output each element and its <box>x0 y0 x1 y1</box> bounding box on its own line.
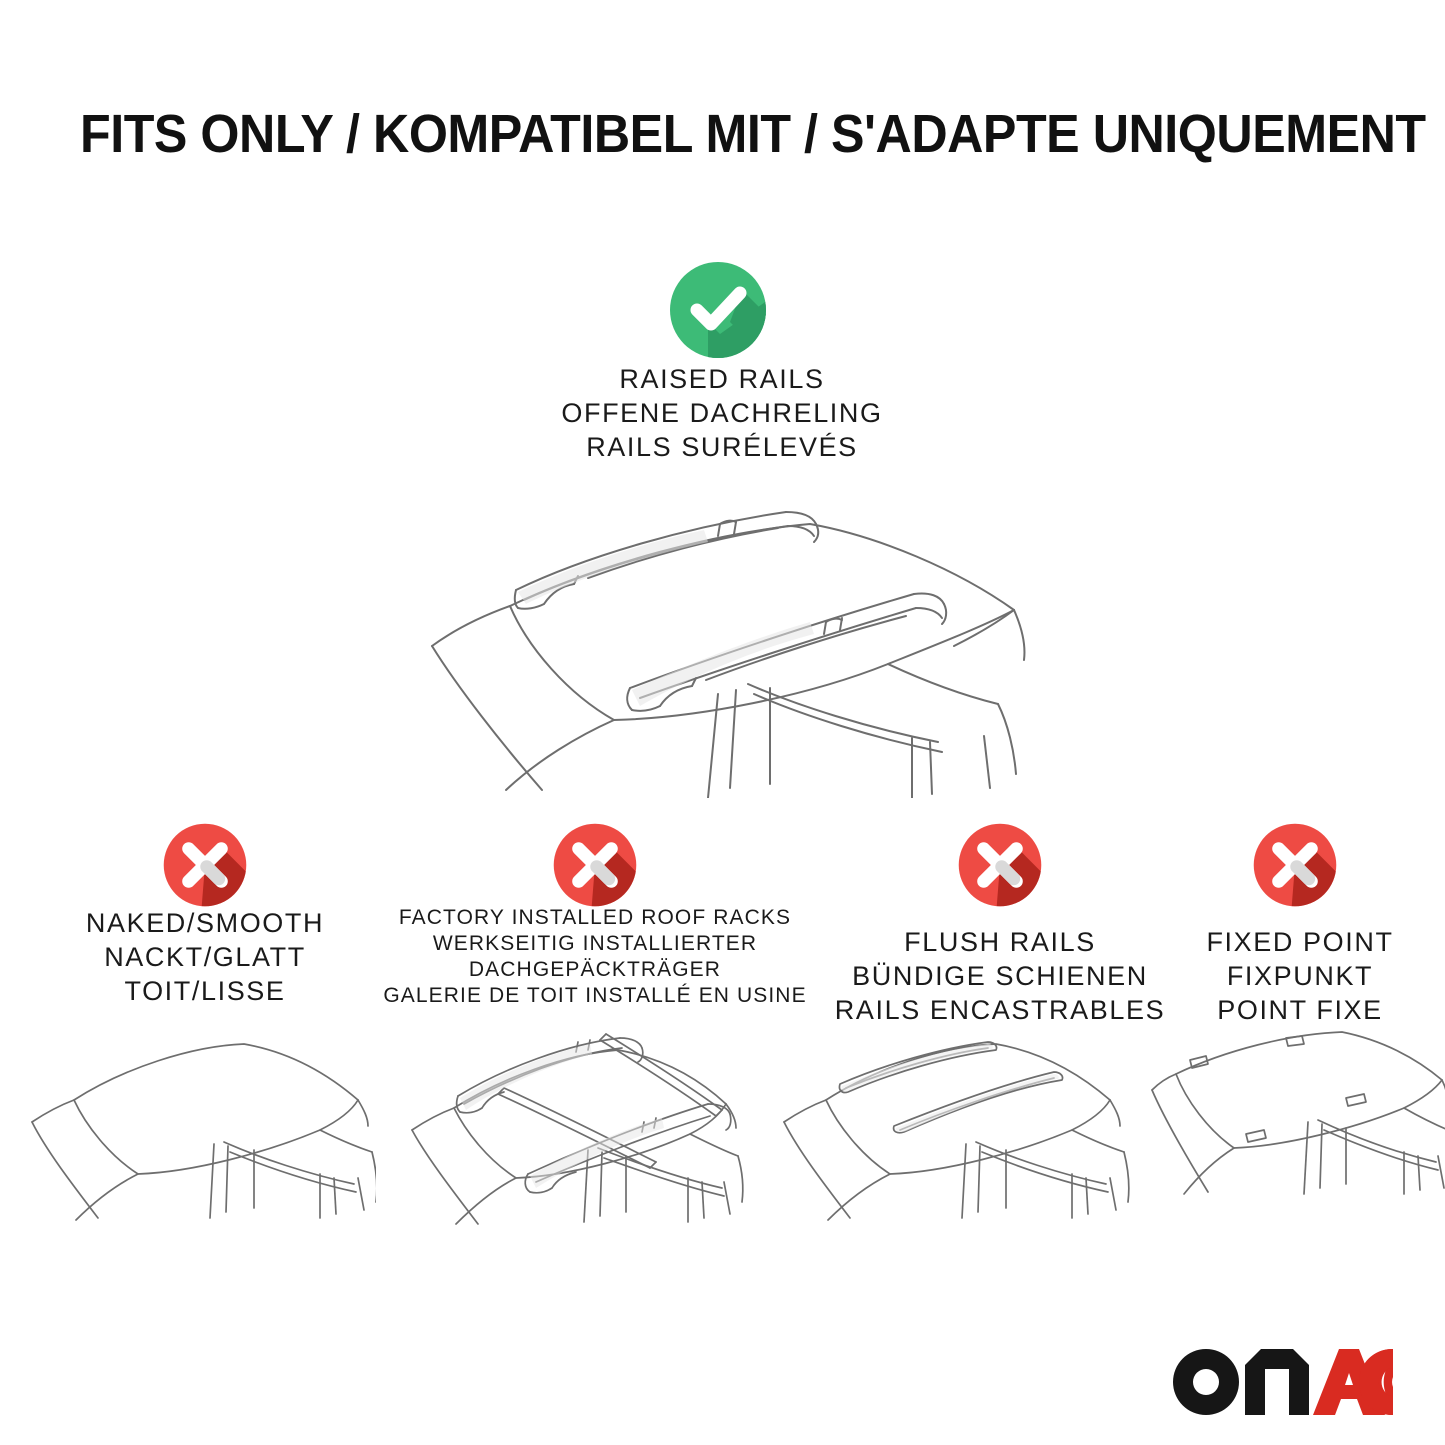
label-line-2: BÜNDIGE SCHIENEN <box>830 959 1170 993</box>
cross-circle-icon <box>1252 822 1338 908</box>
car-roof-raised-rails-illustration <box>418 498 1028 798</box>
label-line-1: FIXED POINT <box>1145 925 1445 959</box>
label-line-4: GALERIE DE TOIT INSTALLÉ EN USINE <box>370 983 820 1009</box>
car-roof-fixed-point-illustration <box>1150 1022 1445 1252</box>
compatible-label-line-2: OFFENE DACHRELING <box>422 396 1022 430</box>
incompatible-label-flush-rails: FLUSH RAILS BÜNDIGE SCHIENEN RAILS ENCAS… <box>830 925 1170 1027</box>
cross-circle-icon <box>552 822 638 908</box>
car-roof-naked-smooth-illustration <box>28 1022 376 1252</box>
incompatible-label-factory-roof-racks: FACTORY INSTALLED ROOF RACKS WERKSEITIG … <box>370 905 820 1009</box>
logo-letter-m <box>1245 1349 1309 1415</box>
car-roof-factory-roof-racks-illustration <box>398 1012 750 1252</box>
check-circle-icon <box>668 260 768 360</box>
cross-circle-icon <box>162 822 248 908</box>
label-line-1: FACTORY INSTALLED ROOF RACKS <box>370 905 820 931</box>
label-line-2: FIXPUNKT <box>1145 959 1445 993</box>
logo-letter-o <box>1173 1349 1239 1415</box>
label-line-1: FLUSH RAILS <box>830 925 1170 959</box>
compatible-label: RAISED RAILS OFFENE DACHRELING RAILS SUR… <box>422 362 1022 464</box>
compatibility-infographic: FITS ONLY / KOMPATIBEL MIT / S'ADAPTE UN… <box>0 0 1445 1445</box>
incompatible-label-fixed-point: FIXED POINT FIXPUNKT POINT FIXE <box>1145 925 1445 1027</box>
car-roof-flush-rails-illustration <box>778 1022 1130 1252</box>
label-line-2: NACKT/GLATT <box>35 940 375 974</box>
compatible-label-line-1: RAISED RAILS <box>422 362 1022 396</box>
cross-circle-icon <box>957 822 1043 908</box>
page-title: FITS ONLY / KOMPATIBEL MIT / S'ADAPTE UN… <box>80 104 1289 164</box>
omac-logo <box>1173 1347 1393 1417</box>
compatible-label-line-3: RAILS SURÉLEVÉS <box>422 430 1022 464</box>
label-line-1: NAKED/SMOOTH <box>35 906 375 940</box>
label-line-2: WERKSEITIG INSTALLIERTER <box>370 931 820 957</box>
label-line-3: TOIT/LISSE <box>35 974 375 1008</box>
incompatible-label-naked-smooth: NAKED/SMOOTH NACKT/GLATT TOIT/LISSE <box>35 906 375 1008</box>
label-line-3: DACHGEPÄCKTRÄGER <box>370 957 820 983</box>
